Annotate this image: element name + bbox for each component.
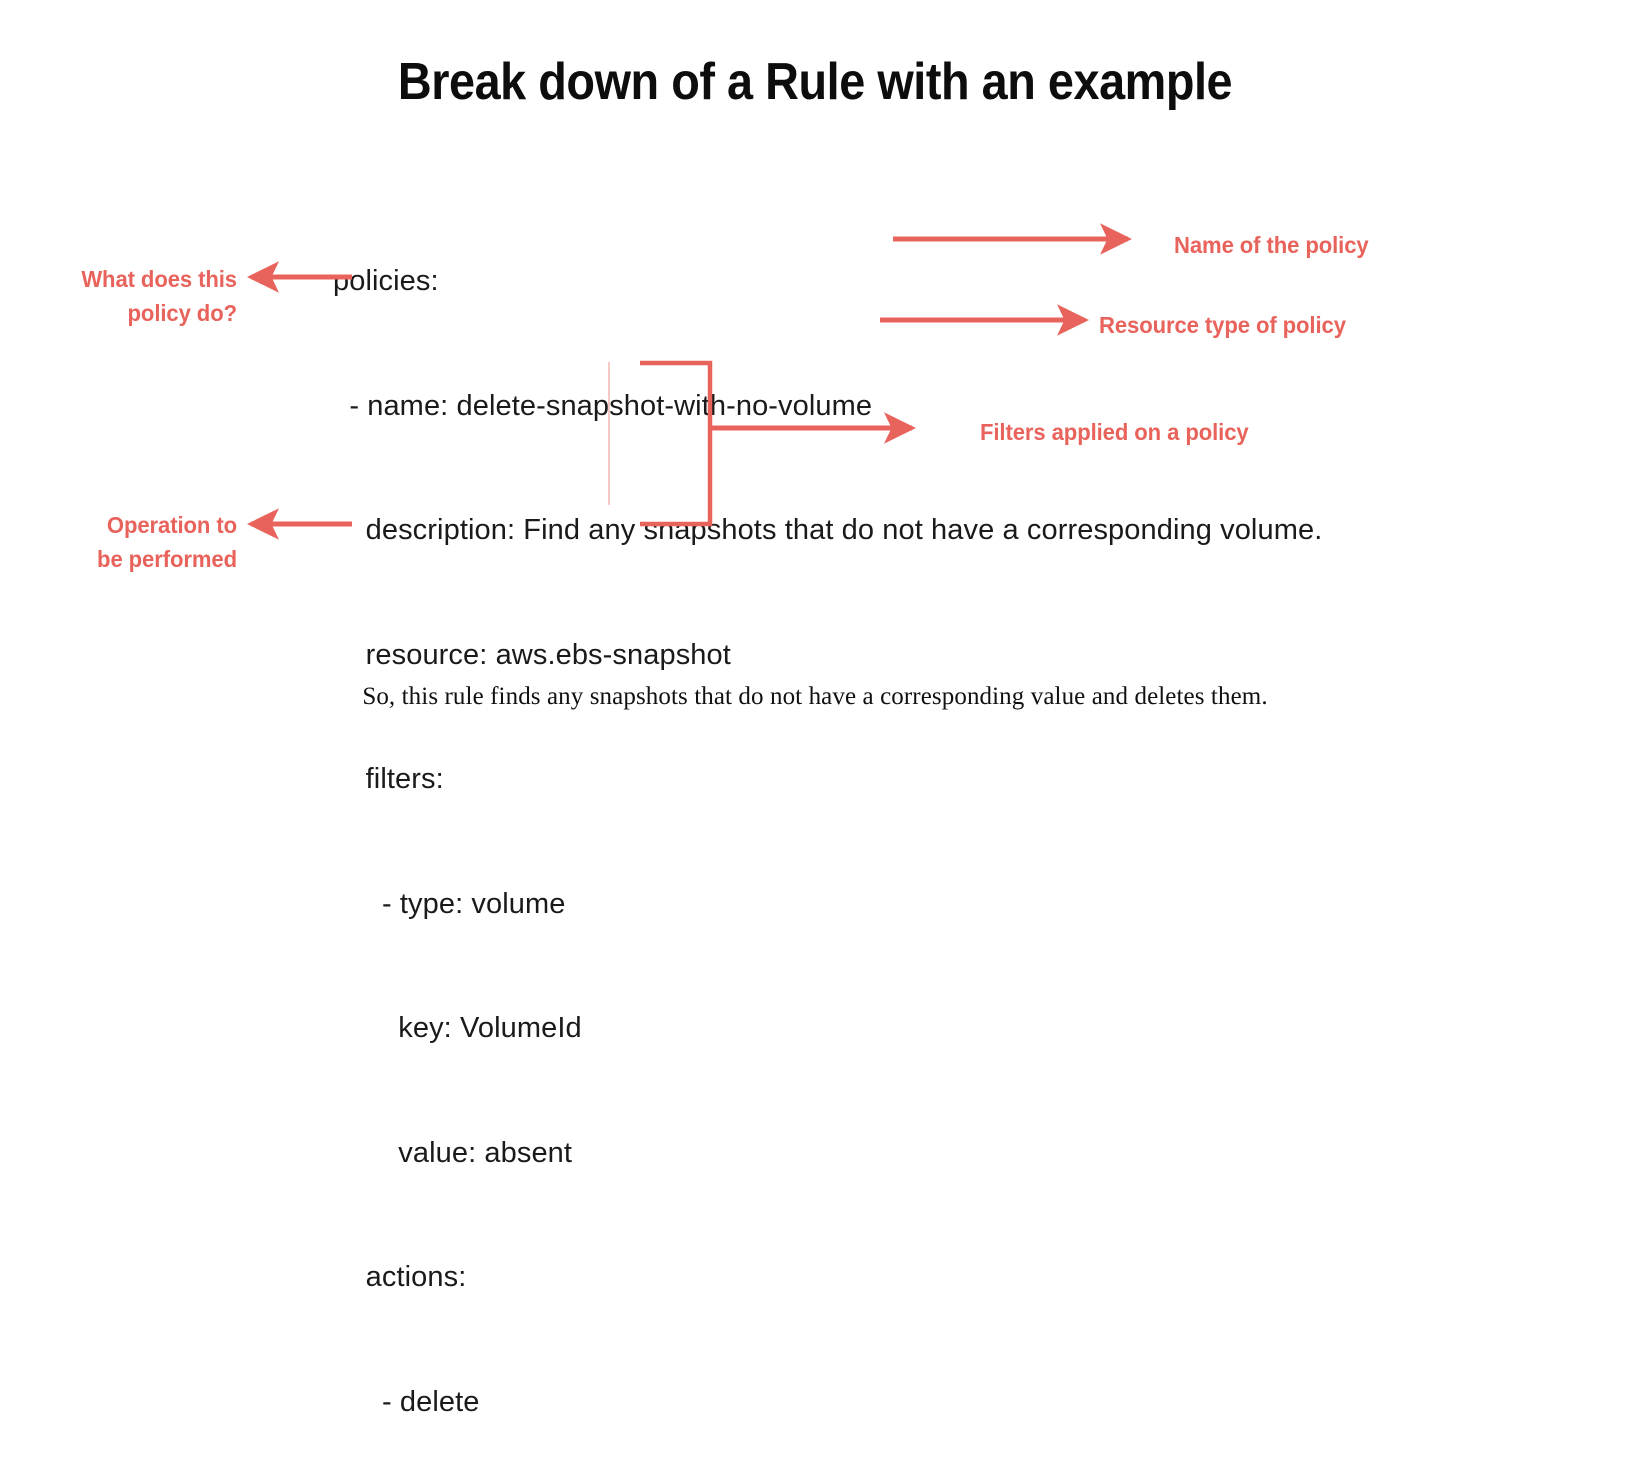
yaml-line-action-delete: - delete (333, 1382, 1322, 1424)
yaml-line-filter-key: key: VolumeId (333, 1008, 1322, 1050)
annotation-label-resource-type-of-policy: Resource type of policy (1099, 308, 1346, 342)
annotation-label-what-does-this-policy-do: What does this policy do? (0, 262, 237, 330)
yaml-line-description: description: Find any snapshots that do … (333, 510, 1322, 552)
yaml-line-filter-type: - type: volume (333, 884, 1322, 926)
annotation-line-1: What does this (0, 262, 237, 296)
annotation-label-name-of-the-policy: Name of the policy (1174, 228, 1369, 262)
yaml-line-filters: filters: (333, 759, 1322, 801)
annotation-label-filters-applied-on-a-policy: Filters applied on a policy (980, 415, 1249, 449)
yaml-line-policies: policies: (333, 261, 1322, 303)
yaml-line-actions: actions: (333, 1257, 1322, 1299)
annotation-line-1: Operation to (0, 508, 237, 542)
page-title: Break down of a Rule with an example (82, 52, 1549, 112)
annotation-line-2: be performed (0, 542, 237, 576)
annotation-label-operation-to-be-performed: Operation to be performed (0, 508, 237, 576)
yaml-code-block: policies: - name: delete-snapshot-with-n… (333, 178, 1322, 1465)
summary-caption: So, this rule finds any snapshots that d… (0, 683, 1630, 711)
annotation-line-2: policy do? (0, 296, 237, 330)
yaml-line-filter-value: value: absent (333, 1133, 1322, 1175)
yaml-line-resource: resource: aws.ebs-snapshot (333, 635, 1322, 677)
